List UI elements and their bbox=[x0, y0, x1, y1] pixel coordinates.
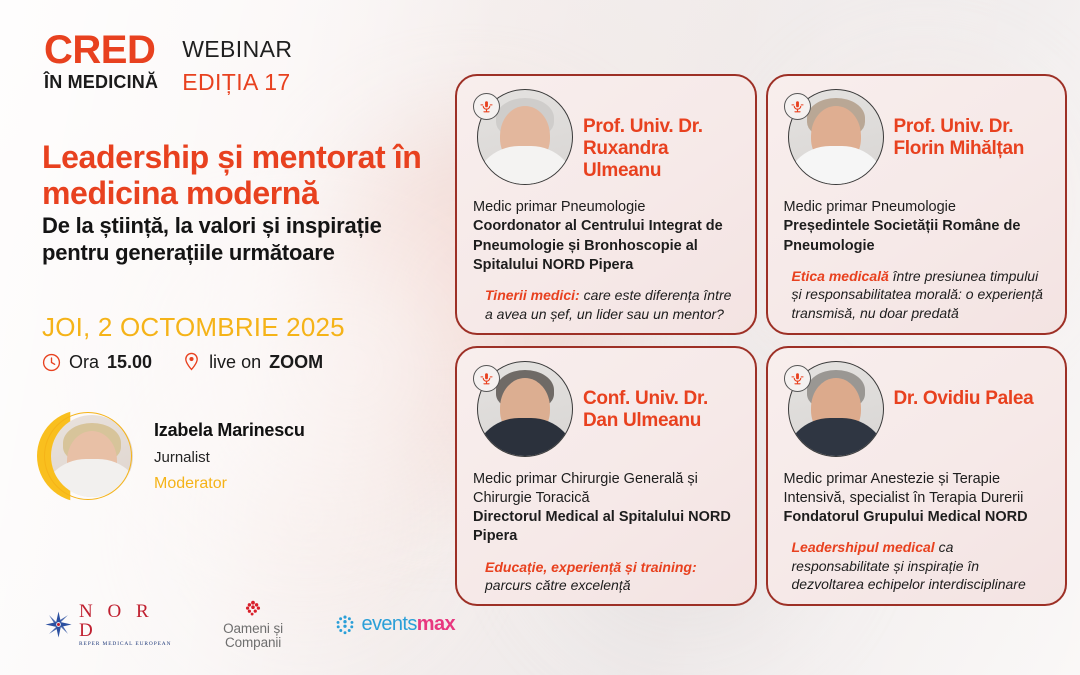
speaker-role-plain: Medic primar Pneumologie bbox=[473, 199, 645, 215]
speaker-card-head: Prof. Univ. Dr. Ruxandra Ulmeanu bbox=[473, 89, 739, 192]
speaker-card-head: Dr. Ovidiu Palea bbox=[784, 361, 1050, 464]
speaker-card: Prof. Univ. Dr. Florin Mihălțan Medic pr… bbox=[766, 74, 1068, 335]
webinar-poster: CRED ÎN MEDICINĂ WEBINAR EDIȚIA 17 Leade… bbox=[0, 0, 1080, 675]
speaker-topic-highlight: Educație, experiență și training: bbox=[485, 559, 697, 575]
event-date: JOI, 2 OCTOMBRIE 2025 bbox=[42, 312, 345, 343]
speaker-topic: Etica medicală între presiunea timpului … bbox=[784, 267, 1050, 322]
speaker-topic-highlight: Etica medicală bbox=[792, 268, 889, 284]
eventsmax-first: events bbox=[361, 613, 416, 635]
eventsmax-text: eventsmax bbox=[361, 613, 455, 636]
cred-logo: CRED ÎN MEDICINĂ bbox=[44, 30, 158, 91]
speaker-name: Conf. Univ. Dr. Dan Ulmeanu bbox=[583, 361, 739, 432]
time-value: 15.00 bbox=[107, 352, 152, 373]
speaker-card: Conf. Univ. Dr. Dan Ulmeanu Medic primar… bbox=[455, 346, 757, 607]
nord-logo: N O R D REPER MEDICAL EUROPEAN bbox=[44, 602, 172, 647]
moderator-info: Izabela Marinescu Jurnalist Moderator bbox=[154, 420, 305, 493]
page-subtitle: De la știință, la valori și inspirație p… bbox=[42, 213, 442, 267]
speaker-topic: Tinerii medici: care este diferența într… bbox=[473, 286, 739, 323]
speaker-role-plain: Medic primar Chirurgie Generală și Chiru… bbox=[473, 471, 698, 506]
speaker-avatar-wrap bbox=[784, 89, 884, 189]
microphone-icon bbox=[784, 93, 811, 120]
speaker-avatar-wrap bbox=[473, 361, 573, 461]
speaker-avatar-wrap bbox=[473, 89, 573, 189]
speaker-topic: Leadershipul medical ca responsabilitate… bbox=[784, 538, 1050, 593]
speaker-role-bold: Directorul Medical al Spitalului NORD Pi… bbox=[473, 509, 731, 544]
portrait-shoulders bbox=[788, 146, 884, 185]
compass-star-icon bbox=[44, 610, 73, 639]
speaker-topic-highlight: Tinerii medici: bbox=[485, 287, 580, 303]
microphone-icon bbox=[784, 365, 811, 392]
speaker-card: Dr. Ovidiu Palea Medic primar Anestezie … bbox=[766, 346, 1068, 607]
speaker-role: Medic primar Pneumologie Președintele So… bbox=[784, 198, 1050, 256]
moderator-ring bbox=[44, 412, 132, 500]
speaker-role: Medic primar Chirurgie Generală și Chiru… bbox=[473, 470, 739, 547]
speaker-role: Medic primar Pneumologie Coordonator al … bbox=[473, 198, 739, 275]
microphone-icon bbox=[473, 365, 500, 392]
event-meta: Ora 15.00 live on ZOOM bbox=[42, 352, 323, 373]
oameni-si-companii-logo: Oameni și Companii bbox=[198, 600, 309, 649]
moderator-avatar-wrap bbox=[44, 412, 132, 500]
clock-icon bbox=[42, 353, 61, 372]
nord-word: N O R D bbox=[79, 601, 154, 641]
speaker-avatar-wrap bbox=[784, 361, 884, 461]
red-cluster-icon bbox=[242, 600, 264, 618]
speaker-role-plain: Medic primar Anestezie și Terapie Intens… bbox=[784, 471, 1024, 506]
microphone-icon bbox=[473, 93, 500, 120]
speaker-name: Prof. Univ. Dr. Ruxandra Ulmeanu bbox=[583, 89, 739, 182]
nord-tagline: REPER MEDICAL EUROPEAN bbox=[79, 642, 172, 647]
speaker-card-head: Conf. Univ. Dr. Dan Ulmeanu bbox=[473, 361, 739, 464]
speaker-topic: Educație, experiență și training: parcur… bbox=[473, 558, 739, 595]
platform-value: ZOOM bbox=[269, 352, 323, 373]
platform-prefix-label: live on bbox=[209, 352, 261, 373]
speaker-cards-grid: Prof. Univ. Dr. Ruxandra Ulmeanu Medic p… bbox=[455, 74, 1067, 606]
left-column: CRED ÎN MEDICINĂ WEBINAR EDIȚIA 17 Leade… bbox=[0, 0, 455, 675]
moderator-tag: Moderator bbox=[154, 475, 305, 493]
speaker-role-bold: Coordonator al Centrului Integrat de Pne… bbox=[473, 218, 723, 273]
eventsmax-second: max bbox=[417, 613, 455, 635]
webinar-block: WEBINAR EDIȚIA 17 bbox=[182, 30, 292, 96]
speaker-name: Prof. Univ. Dr. Florin Mihălțan bbox=[894, 89, 1050, 160]
page-title: Leadership și mentorat în medicina moder… bbox=[42, 140, 442, 212]
nord-logo-text: N O R D REPER MEDICAL EUROPEAN bbox=[79, 602, 172, 647]
edition-label: EDIȚIA 17 bbox=[182, 69, 292, 96]
map-pin-icon bbox=[182, 352, 201, 373]
speaker-topic-rest: parcurs către excelență bbox=[485, 577, 631, 593]
moderator-name: Izabela Marinescu bbox=[154, 420, 305, 441]
oameni-text: Oameni și Companii bbox=[198, 622, 309, 649]
blue-sphere-icon bbox=[334, 614, 356, 636]
speaker-role: Medic primar Anestezie și Terapie Intens… bbox=[784, 470, 1050, 528]
portrait-shoulders bbox=[788, 418, 884, 457]
webinar-label: WEBINAR bbox=[182, 36, 292, 63]
brand-header: CRED ÎN MEDICINĂ WEBINAR EDIȚIA 17 bbox=[44, 30, 292, 96]
time-prefix-label: Ora bbox=[69, 352, 99, 373]
eventsmax-logo: eventsmax bbox=[334, 613, 455, 636]
speaker-name: Dr. Ovidiu Palea bbox=[894, 361, 1034, 410]
speaker-role-plain: Medic primar Pneumologie bbox=[784, 199, 956, 215]
speaker-role-bold: Președintele Societății Române de Pneumo… bbox=[784, 218, 1021, 253]
moderator-role: Jurnalist bbox=[154, 449, 305, 466]
cred-logo-subtitle: ÎN MEDICINĂ bbox=[44, 73, 158, 91]
speaker-card: Prof. Univ. Dr. Ruxandra Ulmeanu Medic p… bbox=[455, 74, 757, 335]
footer-logos: N O R D REPER MEDICAL EUROPEAN O bbox=[44, 600, 455, 649]
portrait-shoulders bbox=[477, 146, 573, 185]
speaker-topic-highlight: Leadershipul medical bbox=[792, 539, 935, 555]
portrait-shoulders bbox=[477, 418, 573, 457]
speaker-card-head: Prof. Univ. Dr. Florin Mihălțan bbox=[784, 89, 1050, 192]
speaker-role-bold: Fondatorul Grupului Medical NORD bbox=[784, 509, 1028, 525]
moderator-block: Izabela Marinescu Jurnalist Moderator bbox=[44, 412, 305, 500]
cred-logo-word: CRED bbox=[44, 30, 158, 70]
